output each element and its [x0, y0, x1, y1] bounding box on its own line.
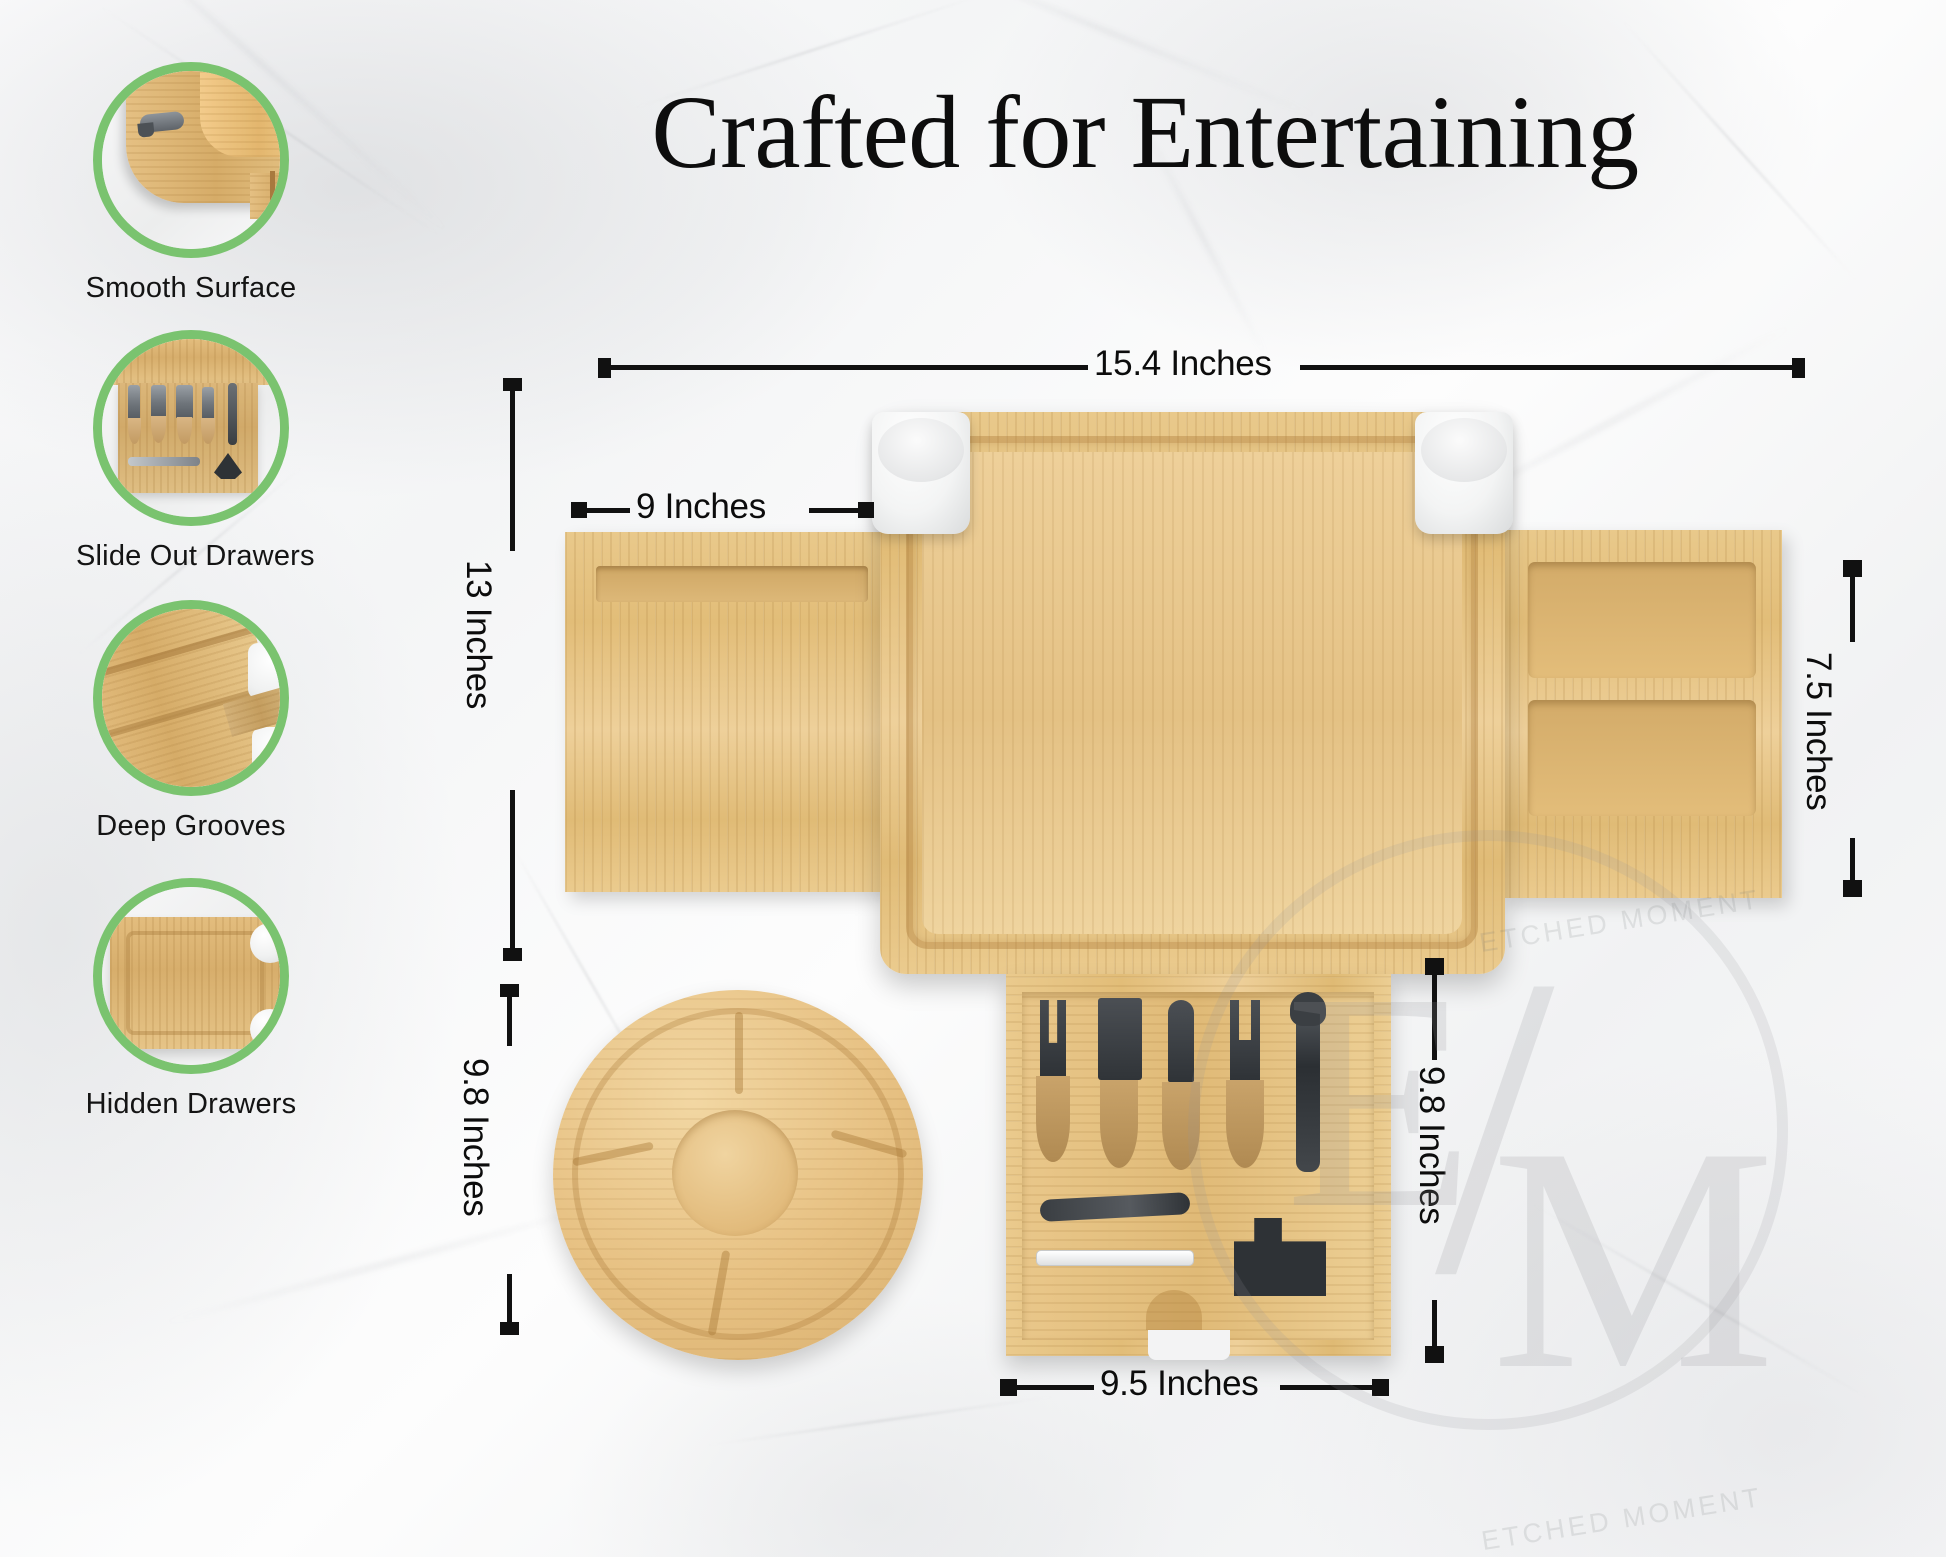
- dim-line-13in-top: [510, 388, 515, 551]
- dim-endpoint-9-8in-left-bottom: [500, 1322, 519, 1335]
- ceramic-bowl-right-rim: [1421, 418, 1507, 482]
- dim-label-13in: 13 Inches: [458, 560, 498, 709]
- wide-cheese-knife: [1098, 998, 1142, 1080]
- dim-endpoint-right: [1792, 358, 1805, 378]
- dim-label-7-5in: 7.5 Inches: [1798, 652, 1838, 811]
- dim-line-13in-bottom: [510, 790, 515, 953]
- right-drawer-compartment-bottom: [1528, 700, 1756, 816]
- round-board-divider-1: [735, 1012, 743, 1094]
- wide-cheese-knife-handle: [1100, 1080, 1138, 1168]
- monogram-letter-m: M: [1491, 1099, 1776, 1419]
- right-drawer-compartment-top: [1528, 562, 1756, 678]
- dim-endpoint-7-5in-bottom: [1843, 880, 1862, 897]
- dim-line-7-5in-top: [1850, 574, 1855, 642]
- cheese-fork-handle: [1036, 1076, 1070, 1162]
- dim-line-9-5in-left: [1014, 1385, 1094, 1390]
- dim-endpoint-9in-right: [858, 502, 874, 518]
- dim-endpoint-13in-bottom: [503, 948, 522, 961]
- dim-label-9-5in: 9.5 Inches: [1100, 1364, 1259, 1404]
- round-board-center-well: [672, 1110, 798, 1236]
- dim-label-9in: 9 Inches: [636, 487, 766, 527]
- dim-line-15-4-left: [608, 365, 1088, 370]
- dim-line-7-5in-bottom: [1850, 838, 1855, 884]
- chalk-sticks: [1036, 1250, 1194, 1266]
- left-drawer-recess: [596, 566, 868, 602]
- tool-drawer-notch: [1148, 1330, 1230, 1360]
- dim-line-9in-left: [584, 508, 630, 513]
- narrow-cheese-knife: [1168, 1000, 1194, 1082]
- dim-line-15-4-right: [1300, 365, 1795, 370]
- dim-label-15-4: 15.4 Inches: [1094, 344, 1272, 384]
- dim-line-9in-right: [809, 508, 863, 513]
- dim-line-9-8in-left-bottom: [507, 1274, 512, 1328]
- dim-label-9-8in-left: 9.8 Inches: [455, 1058, 495, 1217]
- ceramic-bowl-left-rim: [878, 418, 964, 482]
- dim-line-9-8in-left-top: [507, 994, 512, 1046]
